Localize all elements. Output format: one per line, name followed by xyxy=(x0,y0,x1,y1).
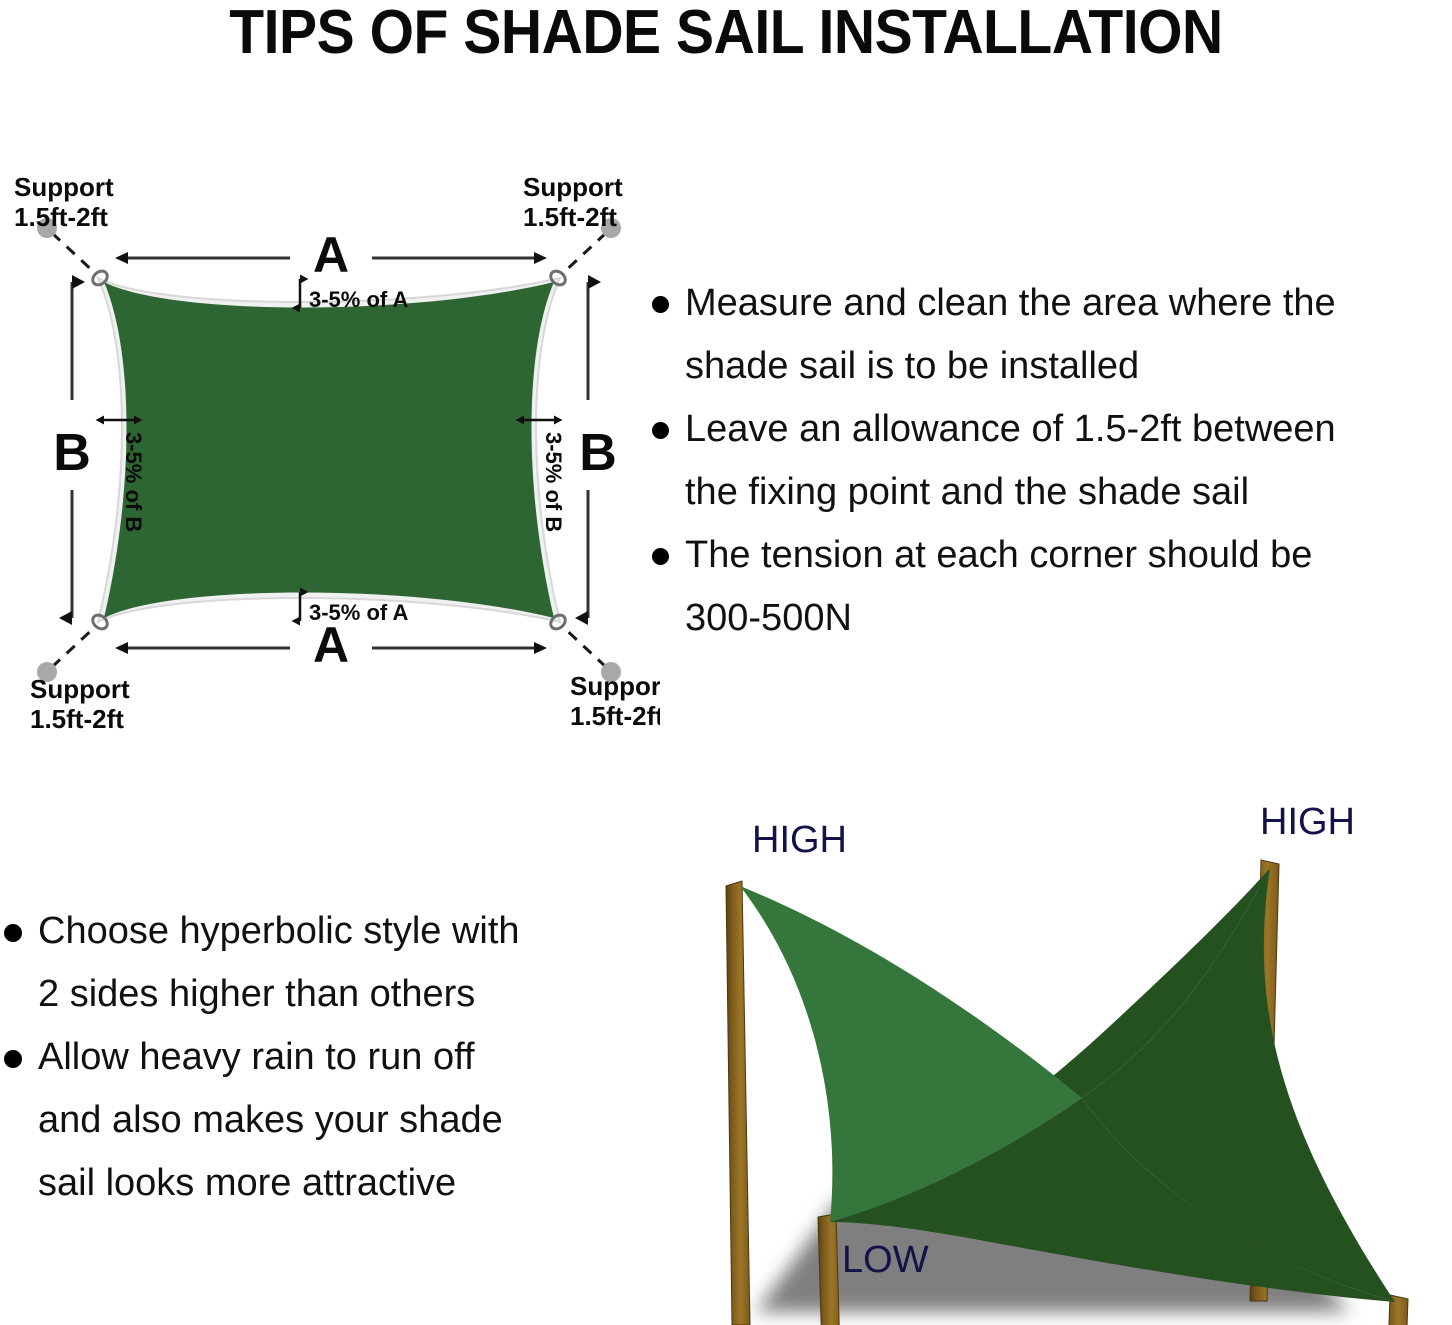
tips-list-top: Measure and clean the area where the sha… xyxy=(652,272,1452,650)
support-bottom-right-line2: 1.5ft-2ft xyxy=(570,701,660,731)
label-curve-right: 3-5% of B xyxy=(541,432,566,532)
list-item: Leave an allowance of 1.5-2ft between th… xyxy=(652,398,1452,524)
support-top-right-line1: Support xyxy=(523,172,623,202)
support-top-left-line2: 1.5ft-2ft xyxy=(14,202,108,232)
list-item: Measure and clean the area where the sha… xyxy=(652,272,1452,398)
tip-line: shade sail is to be installed xyxy=(685,335,1336,398)
tip-line: 300-500N xyxy=(685,587,1312,650)
label-b-right: B xyxy=(579,424,617,482)
label-curve-left: 3-5% of B xyxy=(121,432,146,532)
label-high-right: HIGH xyxy=(1260,801,1355,843)
tip-line: Allow heavy rain to run off xyxy=(38,1026,503,1089)
bullet-dot-icon xyxy=(652,548,669,565)
list-item: Allow heavy rain to run off and also mak… xyxy=(4,1026,644,1215)
support-top-right-line2: 1.5ft-2ft xyxy=(523,202,617,232)
list-item: Choose hyperbolic style with 2 sides hig… xyxy=(4,900,644,1026)
tip-line: sail looks more attractive xyxy=(38,1152,503,1215)
post-high-left xyxy=(726,881,750,1325)
label-curve-bottom: 3-5% of A xyxy=(309,600,409,625)
tip-line: the fixing point and the shade sail xyxy=(685,461,1336,524)
sail-fabric xyxy=(104,282,554,618)
list-item: The tension at each corner should be 300… xyxy=(652,524,1452,650)
support-top-left-line1: Support xyxy=(14,172,114,202)
infographic-page: TIPS OF SHADE SAIL INSTALLATION xyxy=(0,0,1452,1325)
support-bottom-left-line1: Support xyxy=(30,674,130,704)
tip-line: Leave an allowance of 1.5-2ft between xyxy=(685,398,1336,461)
label-low-left: LOW xyxy=(842,1239,929,1281)
tip-line: The tension at each corner should be xyxy=(685,524,1312,587)
dimension-a-top: A xyxy=(128,227,534,283)
dimension-b-left: B xyxy=(53,282,91,618)
page-title: TIPS OF SHADE SAIL INSTALLATION xyxy=(58,0,1394,70)
tips-list-bottom: Choose hyperbolic style with 2 sides hig… xyxy=(4,900,644,1215)
rectangular-sail-diagram: A A B B 3-5% of A 3-5% of A xyxy=(0,160,660,740)
tip-line: Choose hyperbolic style with xyxy=(38,900,520,963)
label-curve-top: 3-5% of A xyxy=(309,287,409,312)
curve-tolerance-left: 3-5% of B xyxy=(104,420,146,532)
tip-line: 2 sides higher than others xyxy=(38,963,520,1026)
hyperbolic-sail-diagram: HIGH HIGH LOW LOW xyxy=(690,790,1452,1325)
bullet-dot-icon xyxy=(4,1050,22,1068)
label-b-left: B xyxy=(53,424,91,482)
tip-line: Measure and clean the area where the xyxy=(685,272,1336,335)
dimension-b-right: B xyxy=(579,282,617,618)
curve-tolerance-top: 3-5% of A xyxy=(300,279,409,312)
support-bottom-left-line2: 1.5ft-2ft xyxy=(30,704,124,734)
label-high-left: HIGH xyxy=(752,819,847,861)
label-a-bottom: A xyxy=(313,617,349,673)
bullet-dot-icon xyxy=(4,924,22,942)
bullet-dot-icon xyxy=(652,422,669,439)
support-bottom-right-line1: Support xyxy=(570,671,660,701)
label-a-top: A xyxy=(313,227,349,283)
dimension-a-bottom: A xyxy=(128,617,534,673)
tip-line: and also makes your shade xyxy=(38,1089,503,1152)
bullet-dot-icon xyxy=(652,296,669,313)
